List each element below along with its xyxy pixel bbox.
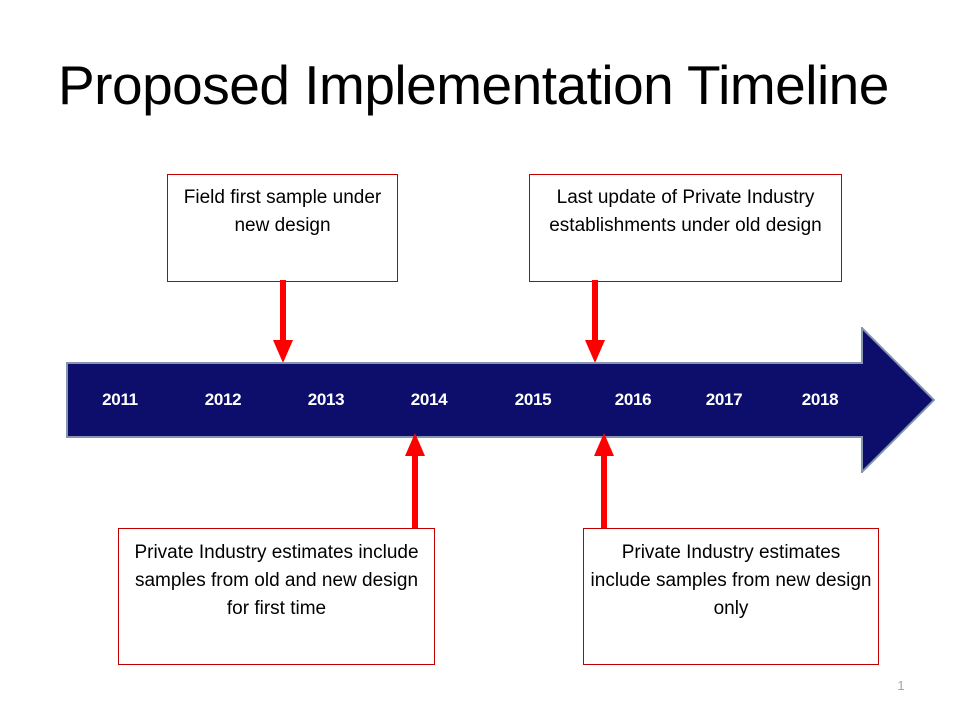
timeline-year-2017: 2017 xyxy=(679,390,769,410)
timeline-year-2013: 2013 xyxy=(281,390,371,410)
callout-text: Private Industry estimates include sampl… xyxy=(584,529,878,623)
timeline-year-2011: 2011 xyxy=(75,390,165,410)
connector-arrow-up-icon xyxy=(404,432,426,530)
timeline-year-2012: 2012 xyxy=(178,390,268,410)
callout-text: Private Industry estimates include sampl… xyxy=(119,529,434,623)
slide-canvas: Proposed Implementation Timeline Field f… xyxy=(0,0,960,720)
slide-page-number: 1 xyxy=(886,678,916,693)
callout-box-field-first-sample[interactable]: Field first sample under new design xyxy=(167,174,398,282)
callout-box-estimates-new-only[interactable]: Private Industry estimates include sampl… xyxy=(583,528,879,665)
callout-text: Field first sample under new design xyxy=(168,175,397,240)
timeline-year-2015: 2015 xyxy=(488,390,578,410)
callout-text: Last update of Private Industry establis… xyxy=(530,175,841,240)
timeline-year-2014: 2014 xyxy=(384,390,474,410)
callout-box-last-update-private-industry[interactable]: Last update of Private Industry establis… xyxy=(529,174,842,282)
timeline-year-2016: 2016 xyxy=(588,390,678,410)
callout-box-estimates-old-and-new[interactable]: Private Industry estimates include sampl… xyxy=(118,528,435,665)
page-title: Proposed Implementation Timeline xyxy=(58,54,918,116)
timeline-year-2018: 2018 xyxy=(775,390,865,410)
connector-arrow-up-icon xyxy=(593,432,615,530)
